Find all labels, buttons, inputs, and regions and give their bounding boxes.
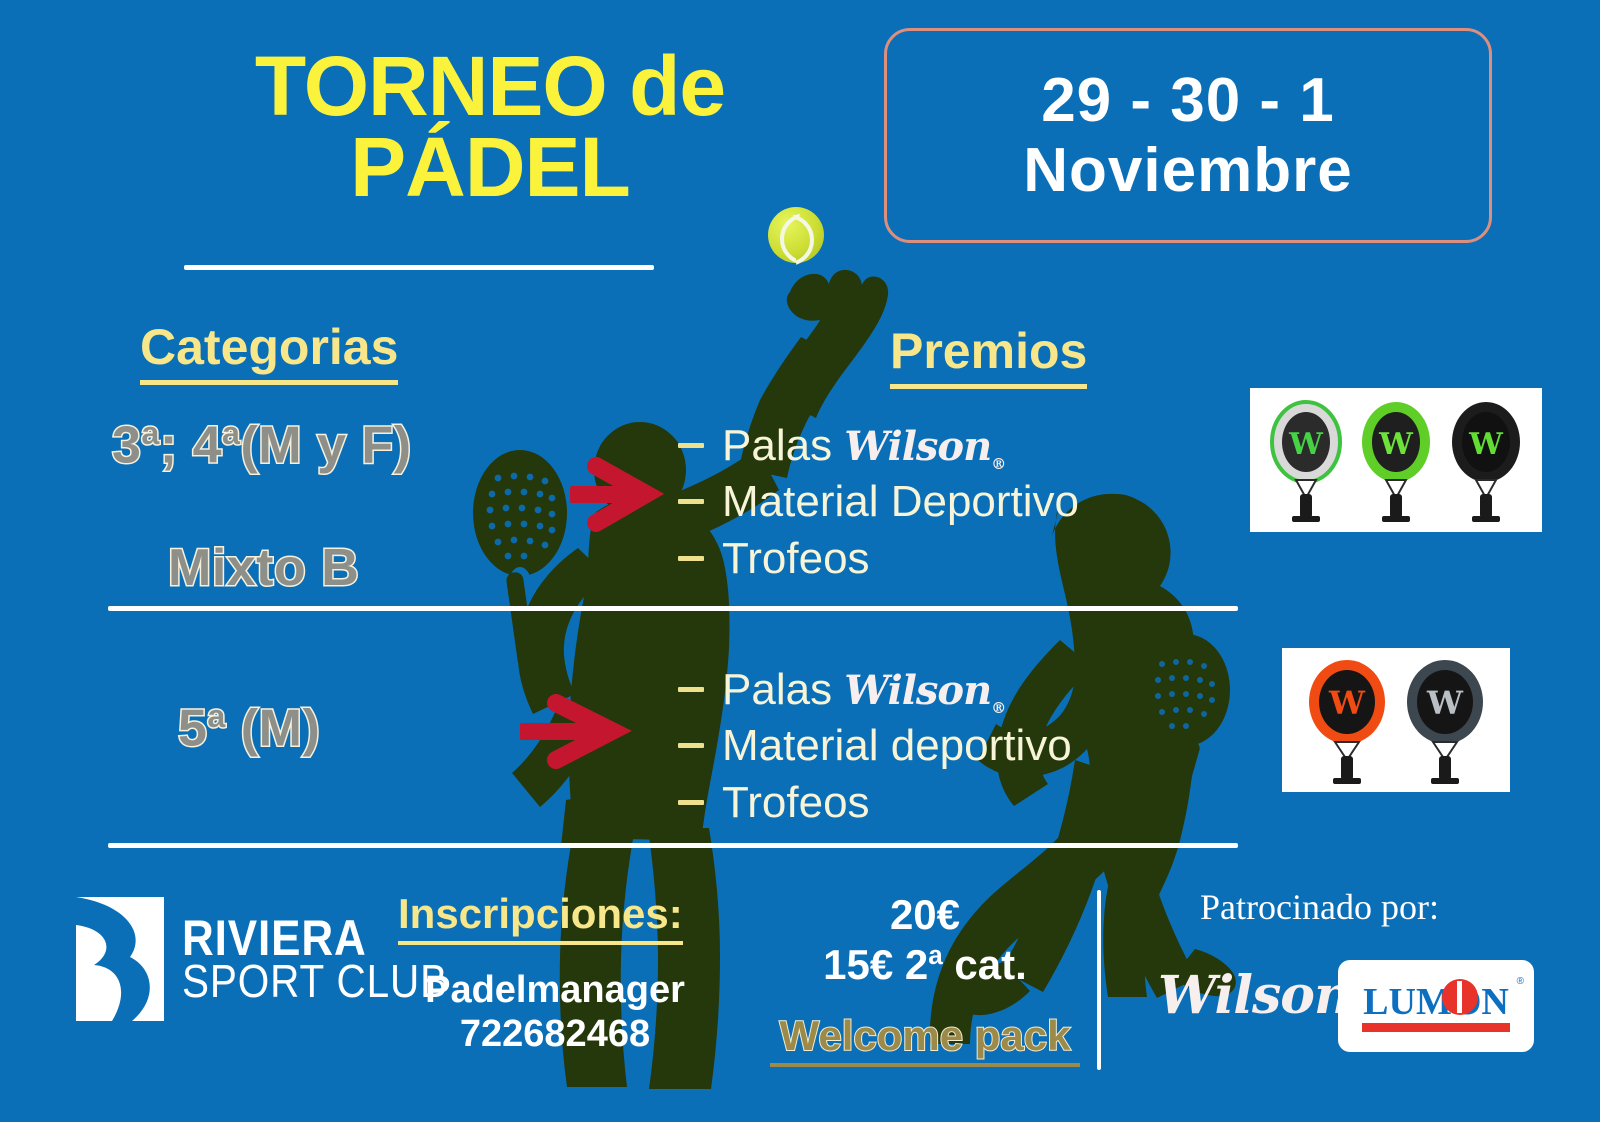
prize-label: Material Deportivo <box>722 474 1079 530</box>
lumon-sponsor-logo: LUMON ® <box>1338 960 1534 1052</box>
category-tail: (M y F) <box>240 416 411 474</box>
category-base: 3 <box>112 416 141 474</box>
riviera-monogram-icon <box>72 895 168 1023</box>
category-tail: (M) <box>226 699 320 757</box>
section-divider-1 <box>108 606 1238 611</box>
dash-bullet-icon <box>678 556 704 561</box>
racket-photo-group-1: W W W <box>1250 388 1542 532</box>
lumon-globe-icon <box>1442 979 1478 1015</box>
racket-white-green: W <box>1272 402 1340 522</box>
category-item-mixto-b: Mixto B <box>168 538 359 598</box>
svg-text:W: W <box>1426 684 1464 722</box>
category-sup: a <box>207 698 225 734</box>
sponsors-header: Patrocinado por: <box>1200 886 1439 928</box>
tennis-ball-icon <box>768 207 824 263</box>
padel-tournament-poster: TORNEO de PÁDEL 29 - 30 - 1 Noviembre Ca… <box>0 0 1600 1122</box>
prize-label: Trofeos <box>722 775 870 831</box>
category-base: 5 <box>178 699 207 757</box>
wilson-wordmark: Wilson® <box>844 667 1005 714</box>
date-line-2: Noviembre <box>1023 136 1352 205</box>
lumon-registered-mark: ® <box>1517 976 1524 987</box>
prize-item: Palas Wilson® <box>678 418 1079 474</box>
dash-bullet-icon <box>678 743 704 748</box>
racket-graphite: W <box>1407 660 1483 784</box>
title-line-1: TORNEO de <box>150 46 830 127</box>
lumon-underline-bar <box>1362 1023 1510 1032</box>
prize-label: Material deportivo <box>722 718 1072 774</box>
prize-item: Material Deportivo <box>678 474 1079 530</box>
wilson-rackets-trio: W W W <box>1262 394 1530 526</box>
prize-item: Palas Wilson® <box>678 662 1072 718</box>
sponsor-vertical-divider <box>1097 890 1101 1070</box>
red-arrow-right-top <box>570 466 646 523</box>
prize-item: Trofeos <box>678 531 1079 587</box>
dash-bullet-icon <box>678 800 704 805</box>
dash-bullet-icon <box>678 499 704 504</box>
category-sup: a <box>141 415 159 451</box>
prize-item: Material deportivo <box>678 718 1072 774</box>
category-sup2: a <box>222 415 240 451</box>
categories-header: Categorias <box>140 318 398 385</box>
svg-text:W: W <box>1328 684 1366 722</box>
date-box: 29 - 30 - 1 Noviembre <box>884 28 1492 243</box>
racket-photo-group-2: W W <box>1282 648 1510 792</box>
racket-orange: W <box>1309 660 1385 784</box>
crouching-player-racket <box>1142 634 1230 811</box>
date-line-1: 29 - 30 - 1 <box>1023 66 1352 135</box>
dash-bullet-icon <box>678 443 704 448</box>
registration-header: Inscripciones: <box>398 890 683 945</box>
serving-player-racket <box>473 450 567 669</box>
registration-phone: 722682468 <box>400 1012 710 1056</box>
prize-label: Palas <box>722 421 844 470</box>
prize-label: Trofeos <box>722 531 870 587</box>
category-item-3a-4a: 3a; 4a(M y F) <box>112 415 412 475</box>
prize-label: Palas <box>722 665 844 714</box>
title-line-2: PÁDEL <box>150 127 830 208</box>
racket-black-green: W <box>1452 402 1520 522</box>
wilson-wordmark: Wilson® <box>844 423 1005 470</box>
welcome-pack-label: Welcome pack <box>770 1012 1080 1067</box>
prizes-header: Premios <box>890 322 1087 389</box>
racket-holes-right <box>1155 659 1215 729</box>
racket-holes-left <box>487 473 556 560</box>
lumon-wordmark: LUMON <box>1356 980 1516 1024</box>
page-title: TORNEO de PÁDEL <box>150 46 830 209</box>
wilson-rackets-duo: W W <box>1293 654 1499 786</box>
prizes-list-group-1: Palas Wilson® Material Deportivo Trofeos <box>678 418 1079 587</box>
racket-green: W <box>1362 402 1430 522</box>
dash-bullet-icon <box>678 687 704 692</box>
category-mid: ; 4 <box>160 416 222 474</box>
price-second-category: 15€ 2a cat. <box>770 940 1080 990</box>
prizes-list-group-2: Palas Wilson® Material deportivo Trofeos <box>678 662 1072 831</box>
title-divider <box>184 265 654 270</box>
prize-item: Trofeos <box>678 775 1072 831</box>
registration-platform: Padelmanager <box>400 968 710 1012</box>
wilson-sponsor-logo: Wilson® <box>1158 965 1368 1029</box>
price-main: 20€ <box>770 890 1080 940</box>
svg-text:W: W <box>1288 427 1324 462</box>
category-item-5a: 5a (M) <box>178 698 320 758</box>
red-arrow-right-bottom <box>520 703 612 760</box>
pricing-block: 20€ 15€ 2a cat. <box>770 890 1080 991</box>
svg-text:W: W <box>1378 427 1414 462</box>
registration-details: Padelmanager 722682468 <box>400 968 710 1057</box>
section-divider-2 <box>108 843 1238 848</box>
svg-text:W: W <box>1468 427 1504 462</box>
